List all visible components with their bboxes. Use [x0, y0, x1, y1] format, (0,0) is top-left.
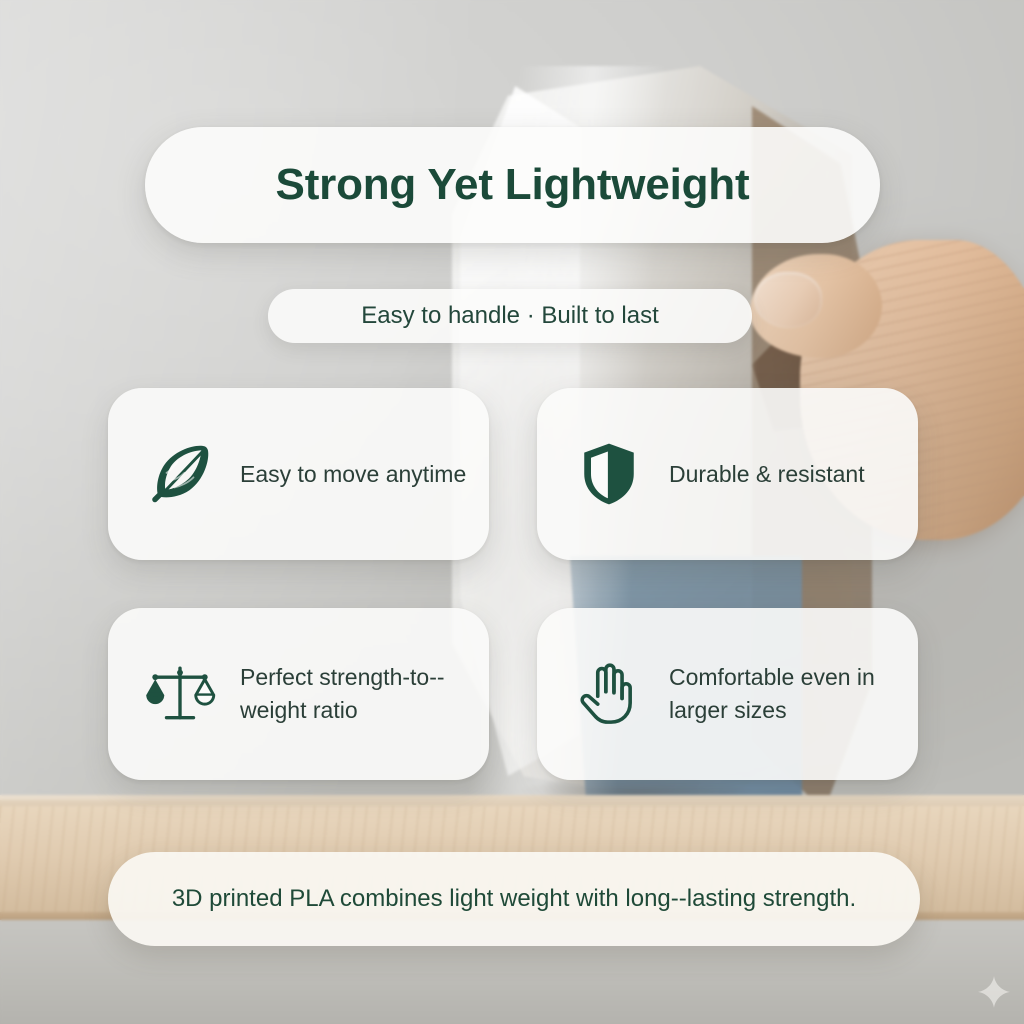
feature-card-label: Easy to move anytime [240, 458, 466, 491]
feature-grid: Easy to move anytime Durable & resistant [108, 388, 918, 780]
feature-card-comfortable[interactable]: Comfortable even in larger sizes [537, 608, 918, 780]
subtitle-pill: Easy to handle · Built to last [268, 289, 752, 343]
feature-card-durable[interactable]: Durable & resistant [537, 388, 918, 560]
feature-card-easy-to-move[interactable]: Easy to move anytime [108, 388, 489, 560]
infographic-overlay: Strong Yet Lightweight Easy to handle · … [0, 0, 1024, 1024]
page-title: Strong Yet Lightweight [276, 160, 750, 210]
feature-card-label: Comfortable even in larger sizes [669, 661, 896, 726]
sparkle-icon [977, 975, 1011, 1009]
title-pill: Strong Yet Lightweight [145, 127, 880, 243]
shield-icon [571, 436, 647, 512]
feature-card-strength-ratio[interactable]: Perfect strength-to--weight ratio [108, 608, 489, 780]
hand-icon [571, 656, 647, 732]
feature-card-label: Perfect strength-to--weight ratio [240, 661, 467, 726]
footer-pill: 3D printed PLA combines light weight wit… [108, 852, 920, 946]
scales-icon [142, 656, 218, 732]
feature-card-label: Durable & resistant [669, 458, 865, 491]
page-subtitle: Easy to handle · Built to last [361, 302, 659, 330]
feather-icon [142, 436, 218, 512]
footer-caption: 3D printed PLA combines light weight wit… [128, 882, 900, 917]
